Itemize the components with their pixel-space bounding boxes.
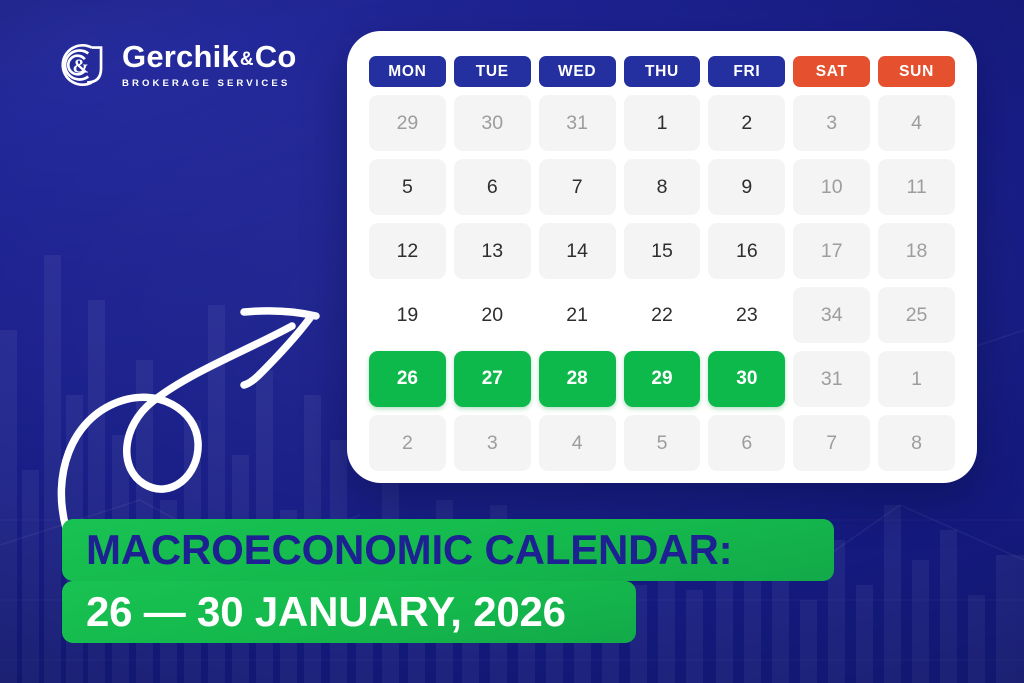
weekday-header-sat: SAT — [793, 56, 870, 87]
calendar-day-cell[interactable]: 9 — [708, 159, 785, 215]
brand-tagline: BROKERAGE SERVICES — [122, 78, 297, 89]
calendar-day-cell[interactable]: 31 — [539, 95, 616, 151]
title-banner-primary: MACROECONOMIC CALENDAR: — [62, 519, 834, 581]
calendar-day-cell[interactable]: 15 — [624, 223, 701, 279]
calendar-day-cell-selected[interactable]: 27 — [454, 351, 531, 407]
calendar-header-row: MONTUEWEDTHUFRISATSUN — [369, 56, 955, 87]
calendar-day-cell[interactable]: 22 — [624, 287, 701, 343]
weekday-header-mon: MON — [369, 56, 446, 87]
calendar-day-cell[interactable]: 4 — [878, 95, 955, 151]
calendar-day-cell[interactable]: 2 — [369, 415, 446, 471]
calendar-day-cell[interactable]: 1 — [624, 95, 701, 151]
calendar-day-cell[interactable]: 1 — [878, 351, 955, 407]
calendar-day-cell[interactable]: 25 — [878, 287, 955, 343]
calendar-day-cell[interactable]: 30 — [454, 95, 531, 151]
calendar-day-cell[interactable]: 10 — [793, 159, 870, 215]
calendar-day-cell[interactable]: 19 — [369, 287, 446, 343]
calendar-day-cell[interactable]: 34 — [793, 287, 870, 343]
calendar-day-cell-selected[interactable]: 29 — [624, 351, 701, 407]
calendar-day-cell[interactable]: 20 — [454, 287, 531, 343]
weekday-header-wed: WED — [539, 56, 616, 87]
calendar-day-cell[interactable]: 3 — [793, 95, 870, 151]
calendar-day-cell[interactable]: 6 — [708, 415, 785, 471]
calendar-day-cell-selected[interactable]: 30 — [708, 351, 785, 407]
hand-drawn-looping-arrow-icon — [48, 270, 348, 530]
calendar-day-cell[interactable]: 12 — [369, 223, 446, 279]
poster-canvas: & Gerchik&Co BROKERAGE SERVICES MONTUEWE… — [0, 0, 1024, 683]
calendar-day-cell[interactable]: 6 — [454, 159, 531, 215]
calendar-day-cell[interactable]: 18 — [878, 223, 955, 279]
calendar-day-cell[interactable]: 8 — [878, 415, 955, 471]
brand-name: Gerchik&Co — [122, 41, 297, 72]
calendar-day-cell[interactable]: 4 — [539, 415, 616, 471]
calendar-day-cell[interactable]: 5 — [624, 415, 701, 471]
calendar-day-cell[interactable]: 16 — [708, 223, 785, 279]
calendar-day-cell-selected[interactable]: 28 — [539, 351, 616, 407]
title-banner-secondary: 26 — 30 JANUARY, 2026 — [62, 581, 636, 643]
calendar-day-cell[interactable]: 14 — [539, 223, 616, 279]
calendar-day-cell[interactable]: 3 — [454, 415, 531, 471]
gerchik-monogram-icon: & — [50, 36, 108, 94]
weekday-header-fri: FRI — [708, 56, 785, 87]
calendar-day-cell[interactable]: 8 — [624, 159, 701, 215]
calendar-card: MONTUEWEDTHUFRISATSUN 293031123456789101… — [347, 31, 977, 483]
page-title-line2: 26 — 30 JANUARY, 2026 — [86, 591, 566, 633]
calendar-day-cell[interactable]: 5 — [369, 159, 446, 215]
svg-text:&: & — [73, 56, 89, 78]
calendar-day-cell-selected[interactable]: 26 — [369, 351, 446, 407]
calendar-day-cell[interactable]: 2 — [708, 95, 785, 151]
calendar-body: 2930311234567891011121314151617181920212… — [369, 95, 955, 471]
calendar-day-cell[interactable]: 13 — [454, 223, 531, 279]
calendar-day-cell[interactable]: 31 — [793, 351, 870, 407]
calendar-day-cell[interactable]: 29 — [369, 95, 446, 151]
brand-ampersand: & — [239, 49, 255, 70]
brand-logo[interactable]: & Gerchik&Co BROKERAGE SERVICES — [50, 36, 297, 94]
calendar-day-cell[interactable]: 23 — [708, 287, 785, 343]
weekday-header-sun: SUN — [878, 56, 955, 87]
calendar-day-cell[interactable]: 7 — [793, 415, 870, 471]
weekday-header-thu: THU — [624, 56, 701, 87]
calendar-day-cell[interactable]: 17 — [793, 223, 870, 279]
weekday-header-tue: TUE — [454, 56, 531, 87]
page-title-line1: MACROECONOMIC CALENDAR: — [86, 529, 732, 571]
calendar-day-cell[interactable]: 21 — [539, 287, 616, 343]
calendar-day-cell[interactable]: 7 — [539, 159, 616, 215]
calendar-day-cell[interactable]: 11 — [878, 159, 955, 215]
